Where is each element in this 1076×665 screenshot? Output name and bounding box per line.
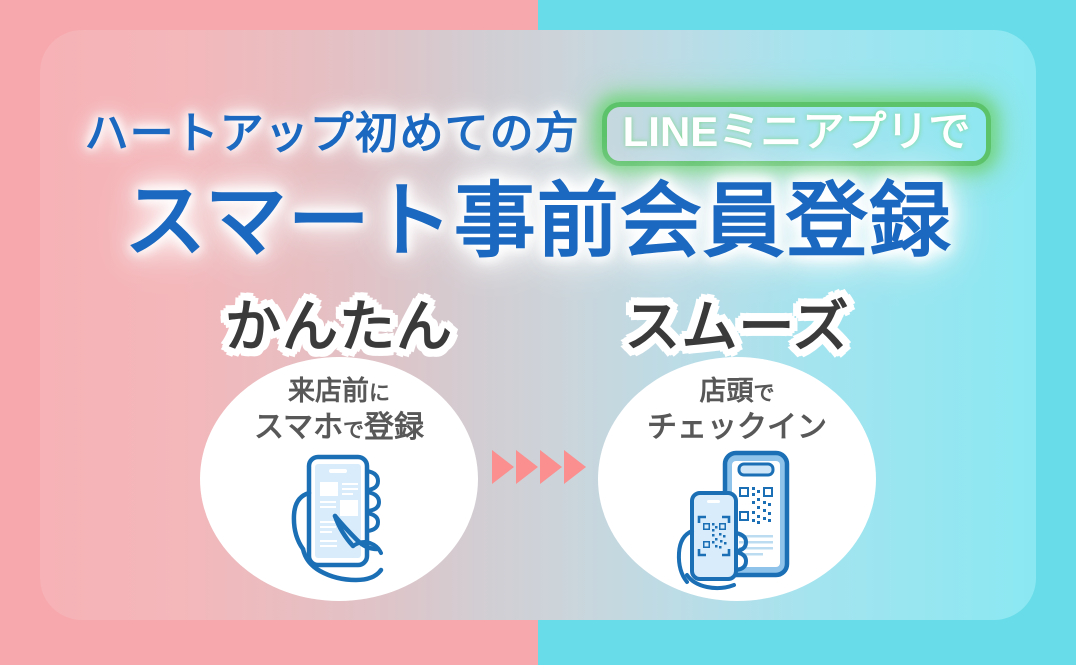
step-2-illustration-wrap xyxy=(598,445,876,595)
step-2-caption-line1-particle: で xyxy=(754,382,775,405)
headline-row: ハートアップ初めての方 LINEミニアプリで xyxy=(0,98,1076,170)
step-2-caption: 店頭で チェックイン xyxy=(598,375,876,446)
step-2-caption-line2: チェックイン xyxy=(598,409,876,447)
arrow-right-icon xyxy=(492,450,514,484)
arrow-right-icon xyxy=(516,450,538,484)
arrow-right-icon xyxy=(540,450,562,484)
progress-arrows xyxy=(492,450,586,484)
arrow-right-icon xyxy=(564,450,586,484)
step-1-caption-line1-main: 来店前 xyxy=(288,376,369,406)
step-1-caption-line2-particle: で xyxy=(343,419,364,442)
line-mini-app-badge: LINEミニアプリで xyxy=(602,102,992,166)
step-2-badge-label: スムーズ xyxy=(598,299,876,355)
subheading-text: ハートアップ初めての方 xyxy=(85,112,580,156)
step-1-caption-line2-b: 登録 xyxy=(364,411,424,444)
step-2-caption-line1: 店頭で xyxy=(598,375,876,409)
step-1-circle: かんたん 来店前に スマホで登録 xyxy=(200,357,478,601)
line-mini-app-badge-label: LINEミニアプリで xyxy=(623,108,971,155)
promo-banner: ハートアップ初めての方 LINEミニアプリで スマート事前会員登録 かんたん 来… xyxy=(0,0,1076,665)
step-2-circle: スムーズ 店頭で チェックイン xyxy=(598,357,876,601)
hand-holding-phone-icon xyxy=(264,445,414,595)
step-1-illustration-wrap xyxy=(200,445,478,595)
qr-checkin-icon xyxy=(662,445,812,595)
step-1-caption-line1-particle: に xyxy=(369,382,390,405)
step-1-caption-line2-a: スマホ xyxy=(254,411,343,444)
step-2-caption-line2-a: チェックイン xyxy=(647,411,827,444)
step-1-caption-line1: 来店前に xyxy=(200,375,478,409)
step-1-caption: 来店前に スマホで登録 xyxy=(200,375,478,446)
step-1-badge-label: かんたん xyxy=(200,299,478,355)
step-2-caption-line1-main: 店頭 xyxy=(700,376,754,406)
main-title: スマート事前会員登録 xyxy=(0,176,1076,268)
step-1-caption-line2: スマホで登録 xyxy=(200,409,478,447)
